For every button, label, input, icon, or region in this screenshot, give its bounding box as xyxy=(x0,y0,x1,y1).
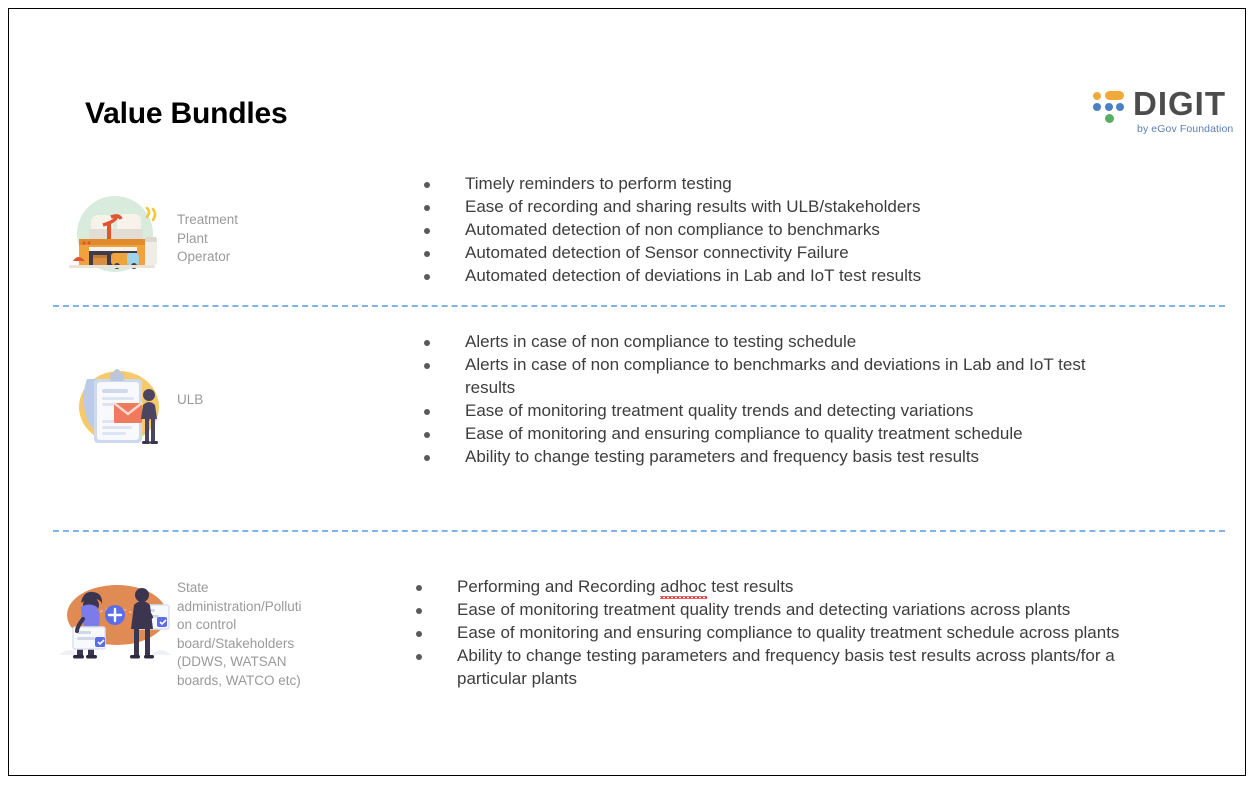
row-1-label-line-2: Plant xyxy=(177,230,359,249)
logo-dot-blue-3 xyxy=(1116,103,1124,111)
row-3-label-line-5: (DDWS, WATSAN xyxy=(177,653,363,672)
row-2-bullet-list: Alerts in case of non compliance to test… xyxy=(421,331,1093,469)
list-item: Ease of monitoring and ensuring complian… xyxy=(421,423,1093,446)
clipboard-checklist-illustration-icon xyxy=(61,359,173,451)
list-item: Ease of monitoring and ensuring complian… xyxy=(413,622,1153,645)
logo-dot-orange-pill xyxy=(1105,91,1124,100)
slide-canvas: Value Bundles DIGIT by eGov Foundation xyxy=(8,8,1246,776)
bullet-text-pre: Performing and Recording xyxy=(457,577,660,596)
list-item: Performing and Recording adhoc test resu… xyxy=(413,576,1153,599)
row-3-label: State administration/Polluti on control … xyxy=(177,579,363,690)
section-divider-1 xyxy=(53,305,1225,307)
logo-dot-blue-2 xyxy=(1105,103,1113,111)
row-3-label-line-3: on control xyxy=(177,616,363,635)
row-2-label-line-1: ULB xyxy=(177,391,359,410)
bullet-text-post: test results xyxy=(707,577,794,596)
logo-tagline: by eGov Foundation xyxy=(1137,123,1233,135)
row-3-label-line-2: administration/Polluti xyxy=(177,598,363,617)
list-item: Automated detection of deviations in Lab… xyxy=(421,265,1061,288)
logo-wordmark: DIGIT xyxy=(1133,85,1226,123)
treatment-plant-illustration-icon xyxy=(55,187,167,279)
list-item: Ease of recording and sharing results wi… xyxy=(421,196,1061,219)
digit-logo: DIGIT by eGov Foundation xyxy=(1091,85,1239,141)
list-item: Timely reminders to perform testing xyxy=(421,173,1061,196)
section-divider-2 xyxy=(53,530,1225,532)
row-1-bullet-list: Timely reminders to perform testing Ease… xyxy=(421,173,1061,288)
row-1-label-line-3: Operator xyxy=(177,248,359,267)
row-3-bullet-list: Performing and Recording adhoc test resu… xyxy=(413,576,1153,691)
misspelled-word: adhoc xyxy=(660,577,706,596)
page-title: Value Bundles xyxy=(85,97,287,131)
list-item: Alerts in case of non compliance to benc… xyxy=(421,354,1093,399)
logo-dot-orange-small xyxy=(1093,92,1101,100)
list-item: Automated detection of non compliance to… xyxy=(421,219,1061,242)
row-3-label-line-4: board/Stakeholders xyxy=(177,635,363,654)
logo-dot-blue-1 xyxy=(1093,103,1101,111)
list-item: Ease of monitoring treatment quality tre… xyxy=(413,599,1153,622)
stakeholders-collaboration-illustration-icon xyxy=(51,571,175,667)
row-2-label: ULB xyxy=(177,391,359,410)
logo-dot-green xyxy=(1105,114,1114,123)
list-item: Ease of monitoring treatment quality tre… xyxy=(421,400,1093,423)
row-1-label: Treatment Plant Operator xyxy=(177,211,359,267)
list-item: Alerts in case of non compliance to test… xyxy=(421,331,1093,354)
digit-logo-mark-icon xyxy=(1091,91,1127,125)
row-1-label-line-1: Treatment xyxy=(177,211,359,230)
list-item: Automated detection of Sensor connectivi… xyxy=(421,242,1061,265)
list-item: Ability to change testing parameters and… xyxy=(421,446,1093,469)
row-3-label-line-6: boards, WATCO etc) xyxy=(177,672,363,691)
row-3-label-line-1: State xyxy=(177,579,363,598)
list-item: Ability to change testing parameters and… xyxy=(413,645,1153,690)
